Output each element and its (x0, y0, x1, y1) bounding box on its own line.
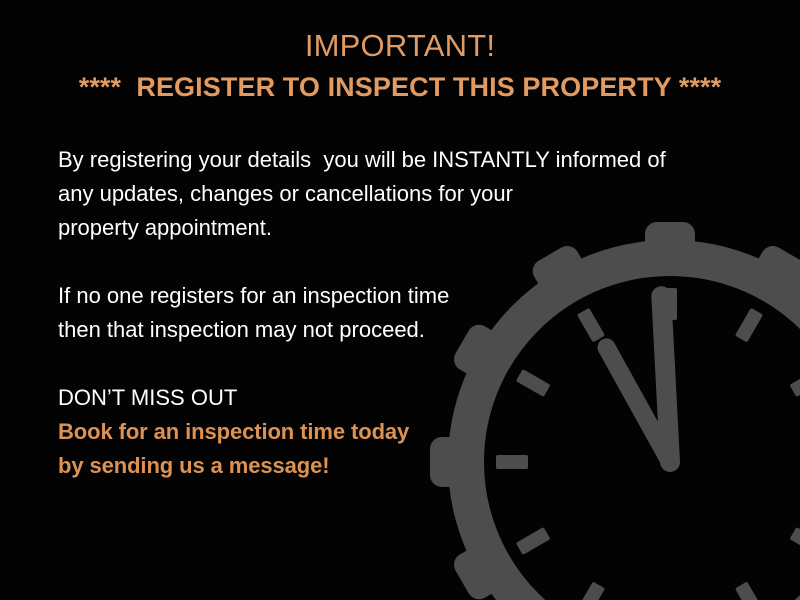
paragraph-call-to-action: DON’T MISS OUT Book for an inspection ti… (58, 381, 738, 483)
body-line: then that inspection may not proceed. (58, 313, 738, 347)
body-line: If no one registers for an inspection ti… (58, 279, 738, 313)
page-subtitle: **** REGISTER TO INSPECT THIS PROPERTY *… (0, 68, 800, 106)
cta-line-book: Book for an inspection time today (58, 415, 738, 449)
body-line: property appointment. (58, 211, 738, 245)
dont-miss-out-line: DON’T MISS OUT (58, 381, 738, 415)
body-line: By registering your details you will be … (58, 143, 738, 177)
heading-block: IMPORTANT! **** REGISTER TO INSPECT THIS… (0, 26, 800, 106)
promo-slide: IMPORTANT! **** REGISTER TO INSPECT THIS… (0, 0, 800, 600)
body-copy: By registering your details you will be … (58, 143, 738, 483)
page-title: IMPORTANT! (0, 26, 800, 66)
cta-line-message: by sending us a message! (58, 449, 738, 483)
body-line: any updates, changes or cancellations fo… (58, 177, 738, 211)
paragraph-registering-benefits: By registering your details you will be … (58, 143, 738, 245)
paragraph-no-registration-warning: If no one registers for an inspection ti… (58, 279, 738, 347)
